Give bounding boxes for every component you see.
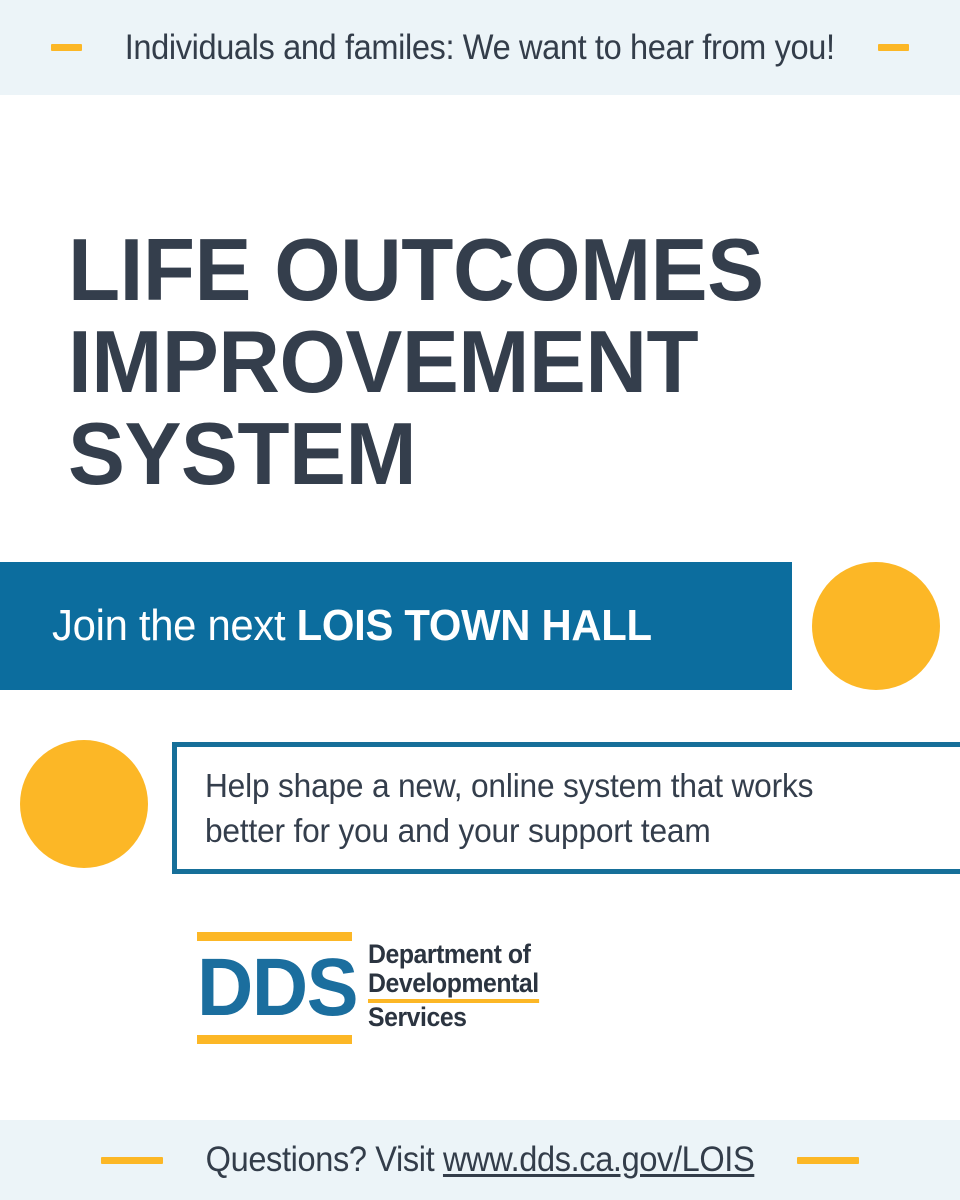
decorative-circle-left — [20, 740, 148, 868]
page-title-line-2: IMPROVEMENT — [68, 316, 902, 408]
footer-prefix: Questions? Visit — [206, 1140, 443, 1179]
dds-logo-word-2: Developmental — [368, 969, 539, 1003]
page-title: LIFE OUTCOMES IMPROVEMENT SYSTEM — [68, 224, 902, 500]
decorative-circle-right — [812, 562, 940, 690]
dash-icon-footer-left — [101, 1157, 163, 1164]
dash-icon-right — [878, 44, 909, 51]
dds-logo-wordmark: Department of Developmental Services — [368, 940, 539, 1032]
dds-logo-letters: DDS — [197, 947, 344, 1029]
dds-logo-word-1: Department of — [368, 940, 539, 969]
footer-website-link[interactable]: www.dds.ca.gov/LOIS — [443, 1140, 754, 1179]
dds-logo-word-3: Services — [368, 1003, 539, 1032]
description-box: Help shape a new, online system that wor… — [172, 742, 960, 874]
dash-icon-left — [51, 44, 82, 51]
page-title-line-3: SYSTEM — [68, 408, 902, 500]
town-hall-banner: Join the next LOIS TOWN HALL — [0, 562, 792, 690]
dds-logo-mark: DDS — [197, 932, 352, 1044]
top-announcement-text: Individuals and familes: We want to hear… — [125, 28, 835, 68]
description-line-2: better for you and your support team — [205, 812, 711, 849]
banner-lead-text: Join the next — [52, 601, 297, 650]
description-text: Help shape a new, online system that wor… — [205, 763, 813, 853]
logo-bar-top-icon — [197, 932, 352, 941]
footer-band: Questions? Visit www.dds.ca.gov/LOIS — [0, 1120, 960, 1200]
page-title-line-1: LIFE OUTCOMES — [68, 224, 902, 316]
footer-text: Questions? Visit www.dds.ca.gov/LOIS — [206, 1140, 755, 1180]
town-hall-banner-text: Join the next LOIS TOWN HALL — [52, 601, 652, 651]
top-announcement-band: Individuals and familes: We want to hear… — [0, 0, 960, 95]
poster-canvas: Individuals and familes: We want to hear… — [0, 0, 960, 1200]
logo-bar-bottom-icon — [197, 1035, 352, 1044]
banner-emphasis-text: LOIS TOWN HALL — [297, 601, 652, 650]
dash-icon-footer-right — [797, 1157, 859, 1164]
dds-logo: DDS Department of Developmental Services — [197, 932, 554, 1044]
description-line-1: Help shape a new, online system that wor… — [205, 767, 813, 804]
